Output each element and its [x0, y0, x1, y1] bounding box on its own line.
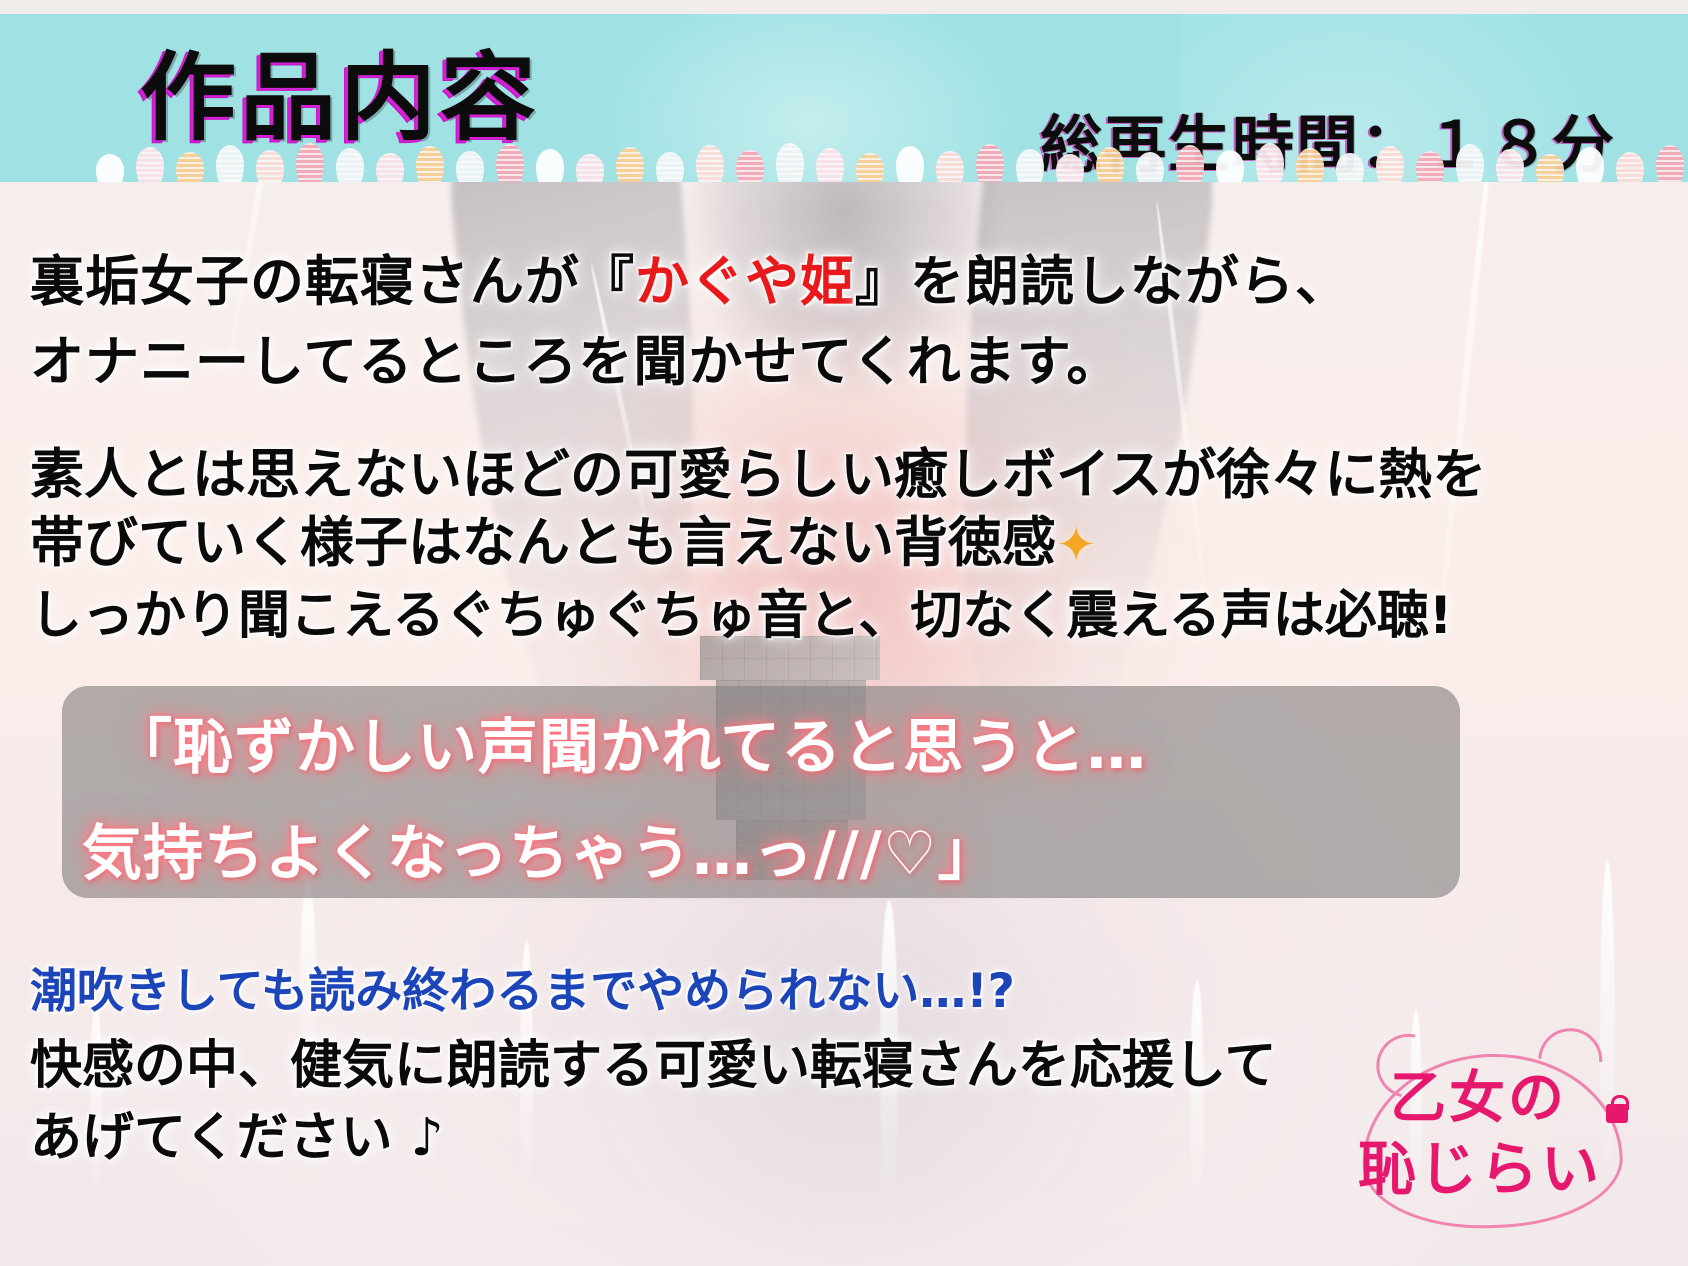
decorative-egg [1216, 150, 1244, 182]
decorative-egg [816, 148, 844, 182]
decorative-egg [96, 154, 124, 182]
decorative-egg [856, 153, 884, 182]
decorative-egg [656, 152, 684, 182]
intro-prefix: 裏垢女子の転寝さんが『 [30, 250, 635, 313]
top-strip [0, 0, 1688, 14]
decorative-egg [376, 153, 404, 182]
decorative-egg [416, 146, 444, 182]
work-title-highlight: かぐや姫 [635, 250, 855, 313]
decorative-egg [1376, 146, 1404, 182]
decorative-egg [776, 143, 804, 182]
description-line-2: 帯びていく様子はなんとも言えない背徳感✦ [30, 516, 1096, 570]
quote-line-2: 気持ちよくなっちゃう…っ///♡」 [82, 824, 999, 884]
header-band: 作品内容 総再生時間：１８分 [0, 14, 1688, 182]
decorative-egg [1616, 152, 1644, 182]
decorative-egg [1536, 154, 1564, 182]
decorative-egg [1096, 147, 1124, 182]
decorative-egg [576, 154, 604, 182]
decorative-egg [1336, 153, 1364, 182]
decorative-egg [1056, 154, 1084, 182]
brand-logo-line-1: 乙女の [1390, 1070, 1567, 1126]
promo-banner: 作品内容 総再生時間：１８分 裏垢女子の転寝さんが『かぐや姫』を朗読しながら、 … [0, 0, 1688, 1266]
background-drip [90, 1000, 102, 1200]
decorative-egg [216, 145, 244, 182]
description-line-2-text: 帯びていく様子はなんとも言えない背徳感 [30, 511, 1056, 574]
decorative-egg [1576, 147, 1604, 182]
decorative-egg [616, 147, 644, 182]
brand-logo-line-2: 恥じらい [1358, 1140, 1602, 1198]
background-drip [1190, 980, 1204, 1220]
decorative-egg [456, 151, 484, 182]
decorative-egg [256, 150, 284, 182]
decorative-egg [136, 147, 164, 182]
decorative-egg [696, 145, 724, 182]
sparkle-icon: ✦ [1056, 517, 1096, 573]
description-line-1: 素人とは思えないほどの可愛らしい癒しボイスが徐々に熱を [30, 448, 1486, 502]
page-title: 作品内容 [140, 50, 540, 146]
decorative-egg [736, 150, 764, 182]
decorative-egg [536, 149, 564, 182]
decorative-egg [1136, 152, 1164, 182]
decorative-egg [936, 151, 964, 182]
decorative-egg [1256, 143, 1284, 182]
decorative-egg [1296, 148, 1324, 182]
decorative-egg [496, 144, 524, 182]
quote-line-1: 「恥ずかしい声聞かれてると思うと… [112, 718, 1147, 778]
decorative-egg [176, 152, 204, 182]
description-line-3: しっかり聞こえるぐちゅぐちゅ音と、切なく震える声は必聴! [30, 590, 1453, 642]
decorative-egg [1016, 149, 1044, 182]
decorative-egg-row [0, 142, 1688, 182]
highlight-line-blue: 潮吹きしても読み終わるまでやめられない…!? [30, 968, 1015, 1015]
decorative-egg [296, 143, 324, 182]
decorative-egg [1416, 151, 1444, 182]
decorative-egg [1496, 149, 1524, 182]
decorative-egg [1656, 145, 1684, 182]
intro-suffix: 』を朗読しながら、 [855, 250, 1350, 313]
brand-logo: 乙女の 恥じらい [1332, 1000, 1662, 1250]
intro-line-2: オナニーしてるところを聞かせてくれます。 [30, 335, 1121, 389]
intro-line-1: 裏垢女子の転寝さんが『かぐや姫』を朗読しながら、 [30, 255, 1350, 309]
decorative-egg [896, 146, 924, 182]
decorative-egg [1176, 145, 1204, 182]
closing-line-1: 快感の中、健気に朗読する可愛い転寝さんを応援して [30, 1040, 1276, 1092]
lock-icon [1606, 1104, 1628, 1123]
decorative-egg [336, 148, 364, 182]
decorative-egg [1456, 144, 1484, 182]
closing-line-2: あげてください ♪ [30, 1112, 444, 1164]
decorative-egg [976, 144, 1004, 182]
